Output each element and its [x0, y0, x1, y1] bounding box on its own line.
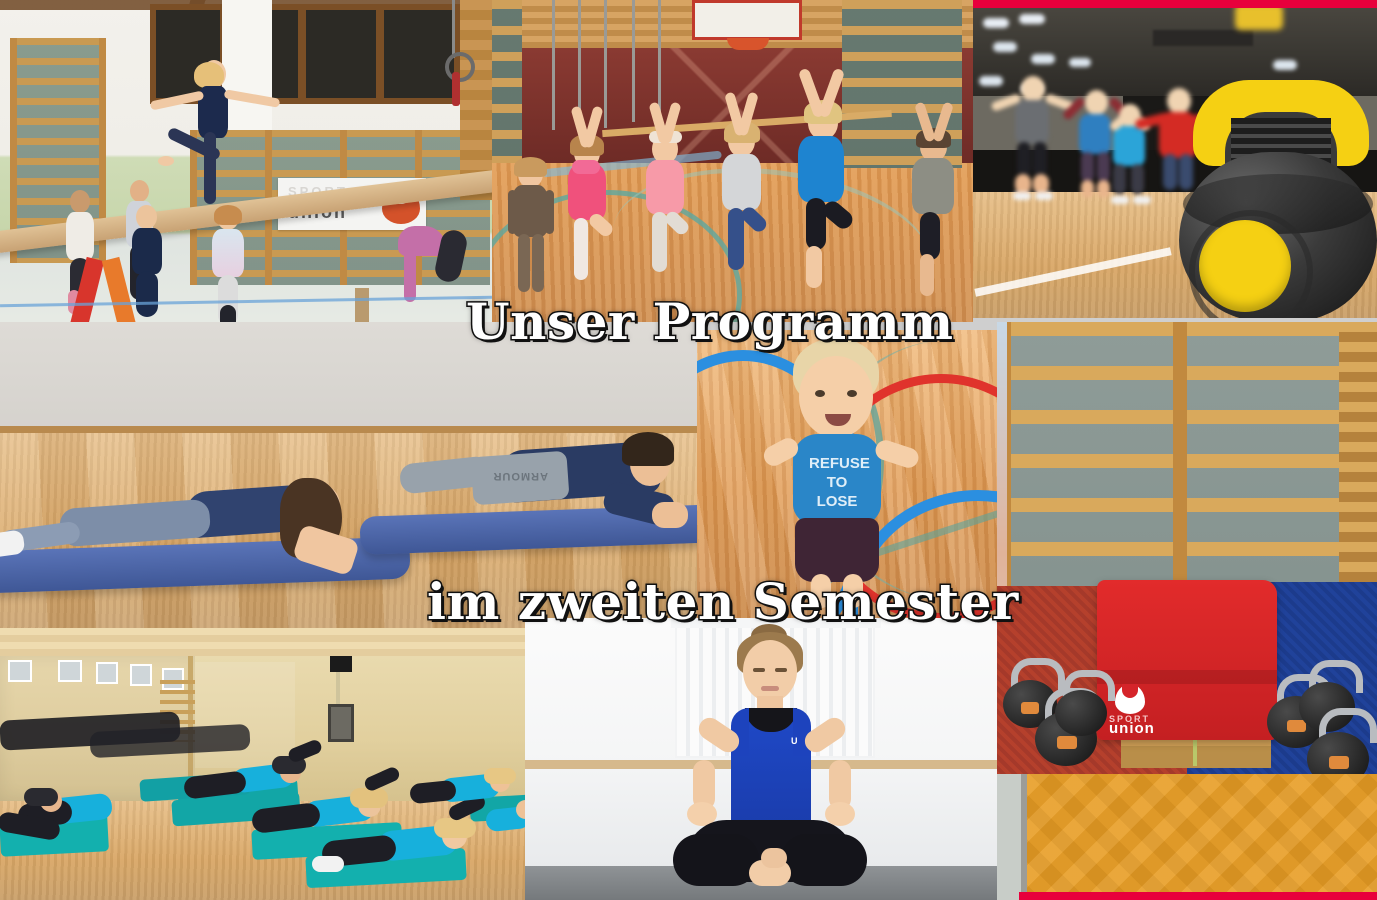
child-figure	[508, 160, 554, 295]
kettlebell-icon	[1179, 78, 1377, 318]
tile-kettlebell-closeup	[973, 0, 1377, 318]
tile-kettlebell-station: SPORT union	[997, 322, 1377, 900]
headline-line-2: im zweiten Semester	[427, 572, 1019, 631]
tile-yoga-meditation: U	[525, 618, 997, 900]
bottom-red-accent-bar	[1019, 892, 1377, 900]
kettlebell-icon	[1053, 670, 1109, 736]
top-red-accent-bar	[973, 0, 1377, 8]
gymnast-figure	[150, 60, 280, 220]
tile-kids-tree-pose	[492, 0, 973, 322]
tile-gymnastics-beam: SPORT union	[0, 0, 492, 322]
man-plank-figure: ARMOUR	[360, 430, 697, 550]
program-poster-collage: SPORT union	[0, 0, 1377, 900]
toddler-figure: REFUSETOLOSE	[771, 338, 911, 608]
headline-line-1: Unser Programm	[466, 292, 953, 351]
meditating-woman-figure: U	[665, 624, 875, 900]
tile-aerobics-class	[0, 628, 525, 900]
woman-plank-figure	[0, 470, 400, 580]
